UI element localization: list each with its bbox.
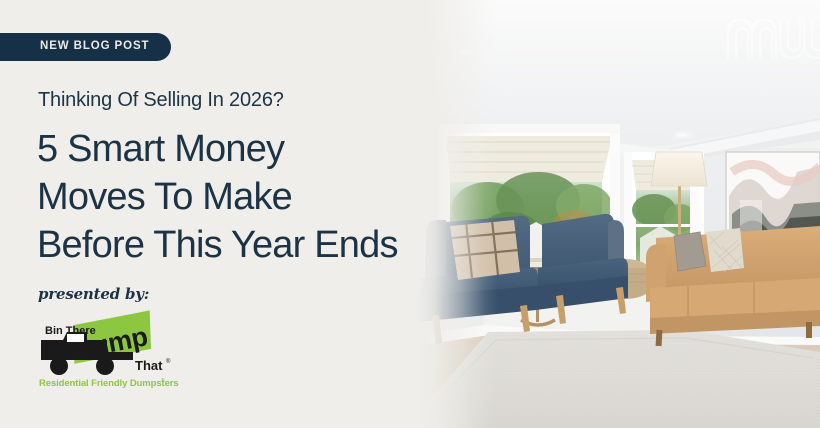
logo-artwork: Dump Bin There That ® Residential Friend… <box>33 310 179 390</box>
eyebrow-text: Thinking Of Selling In 2026? <box>38 89 284 112</box>
headline-line-3: Before This Year Ends <box>37 221 437 269</box>
living-room-illustration <box>388 0 820 428</box>
page-title: 5 Smart Money Moves To Make Before This … <box>37 125 437 269</box>
promo-banner: NEW BLOG POST Thinking Of Selling In 202… <box>0 0 820 428</box>
headline-line-2: Moves To Make <box>37 173 437 221</box>
staged-living-room-photo <box>388 0 820 428</box>
logo-tagline: Residential Friendly Dumpsters <box>39 378 179 389</box>
bin-there-dump-that-logo: Dump Bin There That ® Residential Friend… <box>33 310 179 390</box>
logo-that-word: That <box>135 358 163 373</box>
logo-registered-mark: ® <box>166 358 171 365</box>
logo-tagline-mark: ® <box>161 377 165 384</box>
new-blog-post-badge: NEW BLOG POST <box>0 33 171 61</box>
badge-label: NEW BLOG POST <box>40 41 149 53</box>
presented-by-label: presented by: <box>38 285 149 303</box>
headline-line-1: 5 Smart Money <box>37 125 437 173</box>
